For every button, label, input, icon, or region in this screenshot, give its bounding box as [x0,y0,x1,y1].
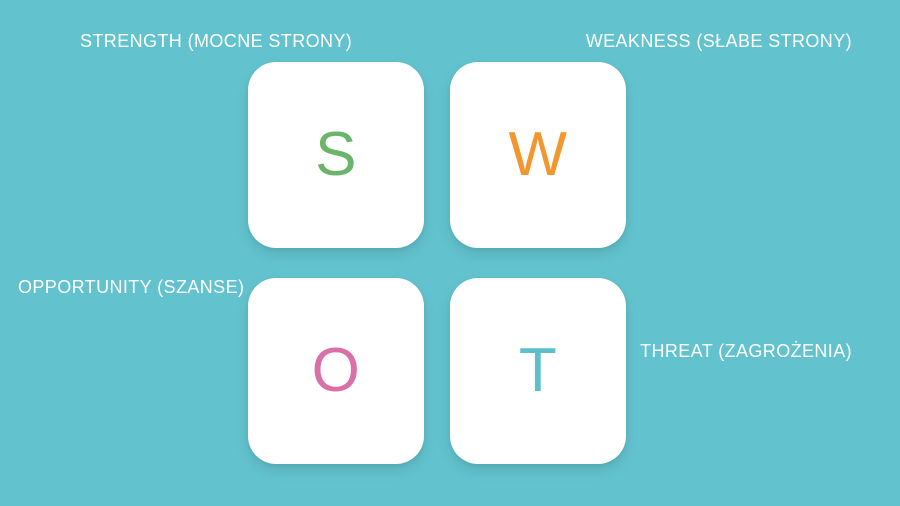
swot-card-weakness[interactable]: W [450,62,626,248]
swot-letter-s: S [315,124,357,186]
swot-card-threat[interactable]: T [450,278,626,464]
swot-letter-t: T [519,340,557,402]
label-opportunity: OPPORTUNITY (SZANSE) [18,277,244,299]
swot-card-strength[interactable]: S [248,62,424,248]
swot-letter-o: O [312,340,361,402]
label-weakness: WEAKNESS (SŁABE STRONY) [586,31,852,53]
swot-letter-w: W [508,124,567,186]
swot-card-grid: S W O T [248,62,626,452]
swot-card-opportunity[interactable]: O [248,278,424,464]
label-strength: STRENGTH (MOCNE STRONY) [80,31,352,53]
label-threat: THREAT (ZAGROŻENIA) [640,341,852,363]
swot-diagram: STRENGTH (MOCNE STRONY) WEAKNESS (SŁABE … [0,0,900,506]
